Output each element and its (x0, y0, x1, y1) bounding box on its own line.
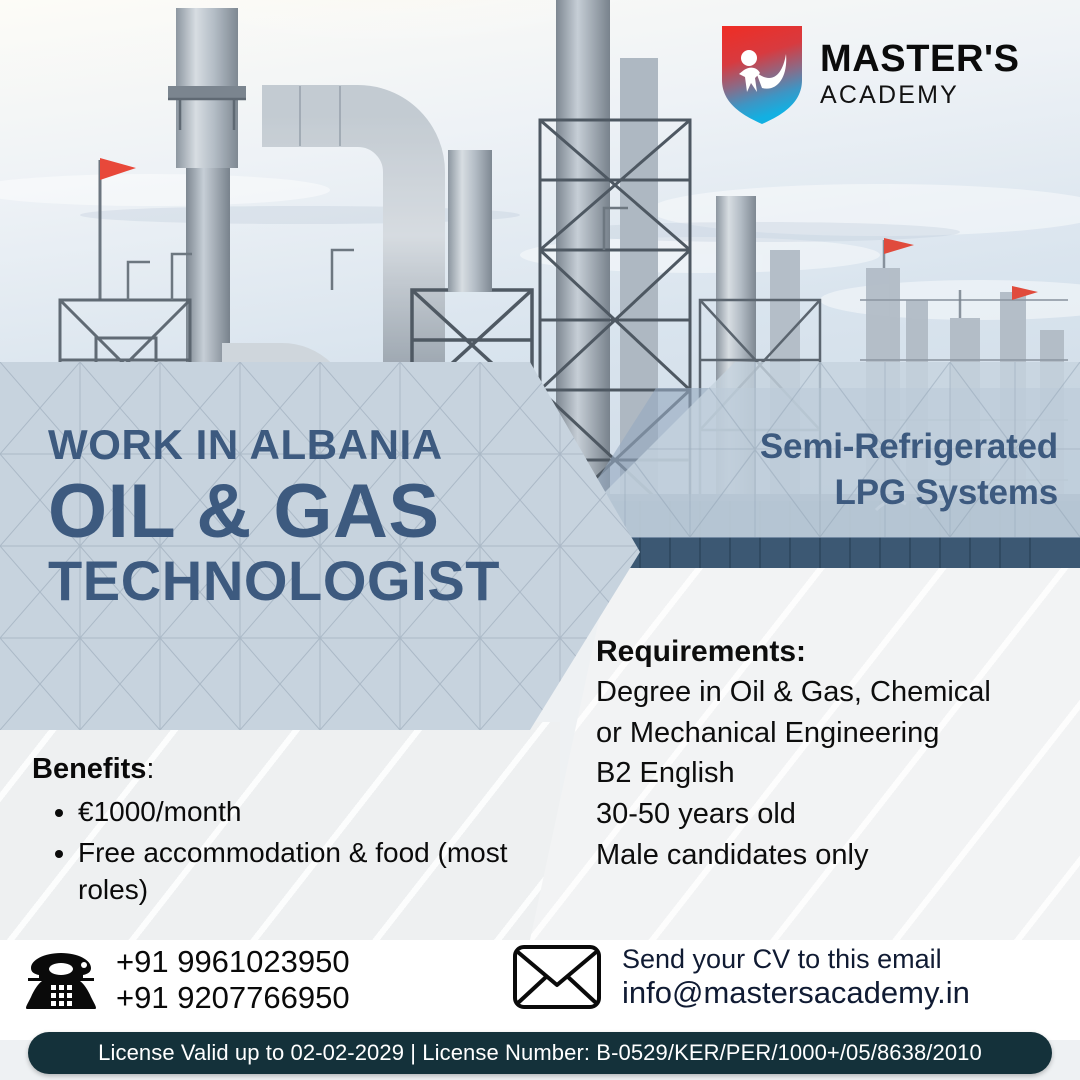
email-contact[interactable]: Send your CV to this email info@mastersa… (512, 944, 970, 1011)
headline-line-1: WORK IN ALBANIA (48, 424, 500, 466)
shield-logo-icon (718, 22, 806, 126)
list-item: Free accommodation & food (most roles) (78, 834, 512, 908)
requirements-line: B2 English (596, 755, 1066, 793)
phone-number-1[interactable]: +91 9961023950 (116, 944, 350, 980)
brand-logo: MASTER'S ACADEMY (718, 22, 1020, 126)
benefits-list: €1000/month Free accommodation & food (m… (32, 793, 512, 909)
benefits-title: Benefits: (32, 752, 512, 787)
license-bar: License Valid up to 02-02-2029 | License… (28, 1032, 1052, 1074)
contact-bar: +91 9961023950 +91 9207766950 Send your … (0, 940, 1080, 1040)
requirements-section: Requirements: Degree in Oil & Gas, Chemi… (596, 632, 1066, 874)
specialty-line-1: Semi-Refrigerated (538, 424, 1058, 470)
brand-name-sub: ACADEMY (820, 83, 1020, 108)
envelope-icon (512, 944, 602, 1010)
phone-contact[interactable]: +91 9961023950 +91 9207766950 (24, 944, 350, 1016)
benefits-section: Benefits: €1000/month Free accommodation… (32, 752, 512, 909)
telephone-icon (24, 949, 98, 1011)
requirements-line: or Mechanical Engineering (596, 715, 1066, 753)
phone-number-2[interactable]: +91 9207766950 (116, 980, 350, 1016)
brand-wordmark: MASTER'S ACADEMY (820, 40, 1020, 108)
email-details: Send your CV to this email info@mastersa… (622, 944, 970, 1011)
license-text: License Valid up to 02-02-2029 | License… (98, 1040, 982, 1066)
headline-line-3: TECHNOLOGIST (48, 553, 500, 609)
list-item: €1000/month (78, 793, 512, 830)
brand-name-main: MASTER'S (820, 40, 1020, 78)
benefits-title-text: Benefits (32, 753, 146, 785)
requirements-title: Requirements: (596, 632, 1066, 671)
requirements-line: Degree in Oil & Gas, Chemical (596, 674, 1066, 712)
specialty-title: Semi-Refrigerated LPG Systems (538, 424, 1058, 515)
recruitment-poster: MASTER'S ACADEMY Semi-Refrigerated LPG S… (0, 0, 1080, 1080)
headline-line-2: OIL & GAS (48, 472, 500, 551)
specialty-line-2: LPG Systems (538, 470, 1058, 516)
requirements-line: Male candidates only (596, 837, 1066, 875)
email-prompt: Send your CV to this email (622, 944, 970, 975)
main-headline: WORK IN ALBANIA OIL & GAS TECHNOLOGIST (48, 424, 500, 609)
benefits-title-colon: : (146, 753, 154, 785)
email-address[interactable]: info@mastersacademy.in (622, 975, 970, 1011)
requirements-line: 30-50 years old (596, 796, 1066, 834)
phone-numbers: +91 9961023950 +91 9207766950 (116, 944, 350, 1016)
